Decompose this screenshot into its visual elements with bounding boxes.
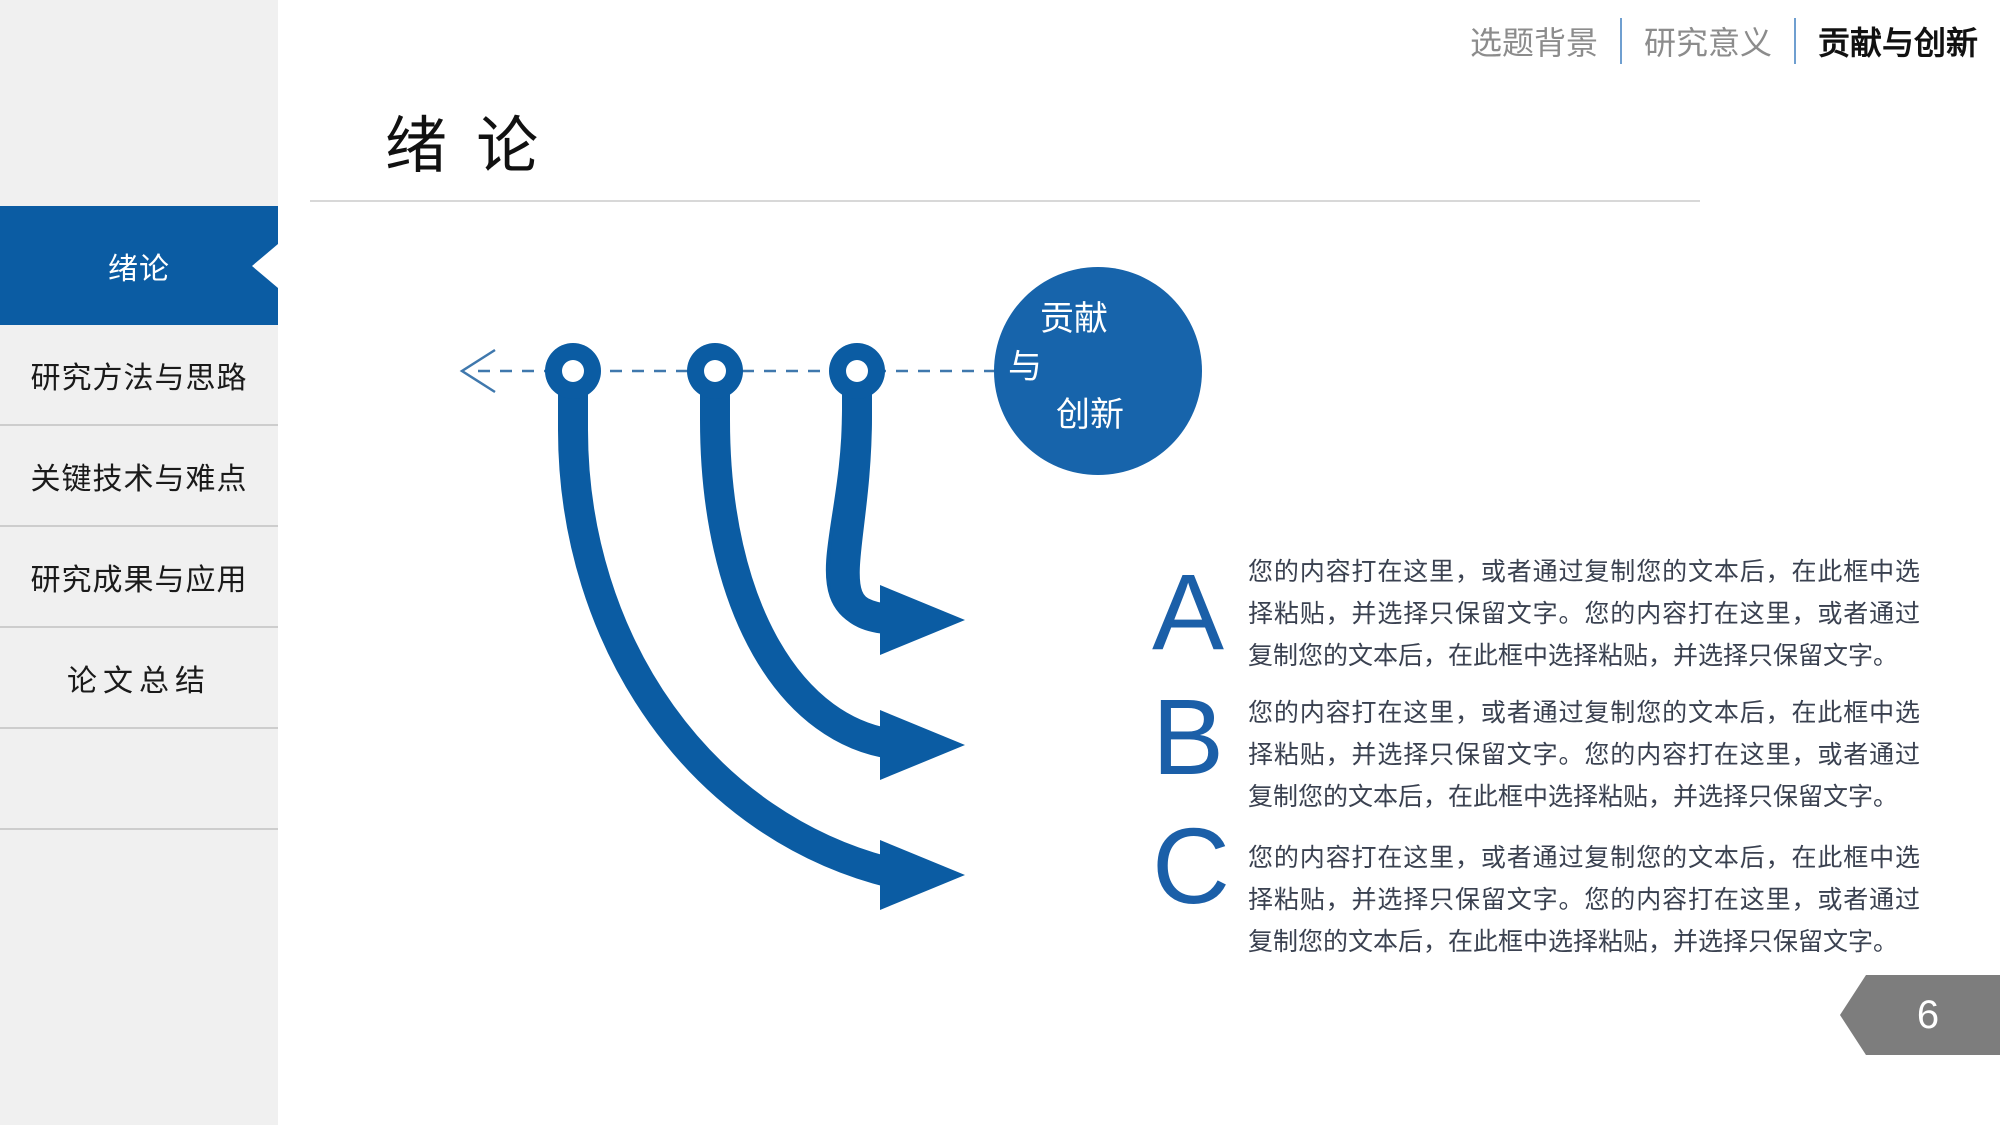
branch-text-b: 您的内容打在这里，或者通过复制您的文本后，在此框中选择粘贴，并选择只保留文字。您… xyxy=(1248,692,1920,818)
pin-node-middle xyxy=(687,343,743,399)
branch-letter-c: C xyxy=(1152,812,1230,920)
connector-path-a xyxy=(845,371,900,620)
branch-letter-a: A xyxy=(1152,558,1224,666)
arrowhead-b-icon xyxy=(880,710,965,780)
branch-text-a: 您的内容打在这里，或者通过复制您的文本后，在此框中选择粘贴，并选择只保留文字。您… xyxy=(1248,551,1920,677)
pin-node-left xyxy=(545,343,601,399)
branch-text-c: 您的内容打在这里，或者通过复制您的文本后，在此框中选择粘贴，并选择只保留文字。您… xyxy=(1248,837,1920,963)
arrowhead-a-icon xyxy=(880,585,965,655)
branch-letter-b: B xyxy=(1152,683,1224,791)
connector-path-b xyxy=(715,371,900,745)
page-number-label: 6 xyxy=(1917,993,1939,1038)
arrowhead-c-icon xyxy=(880,840,965,910)
pin-node-right xyxy=(829,343,885,399)
page-number-badge: 6 xyxy=(1840,975,2000,1055)
hub-circle xyxy=(994,267,1202,475)
